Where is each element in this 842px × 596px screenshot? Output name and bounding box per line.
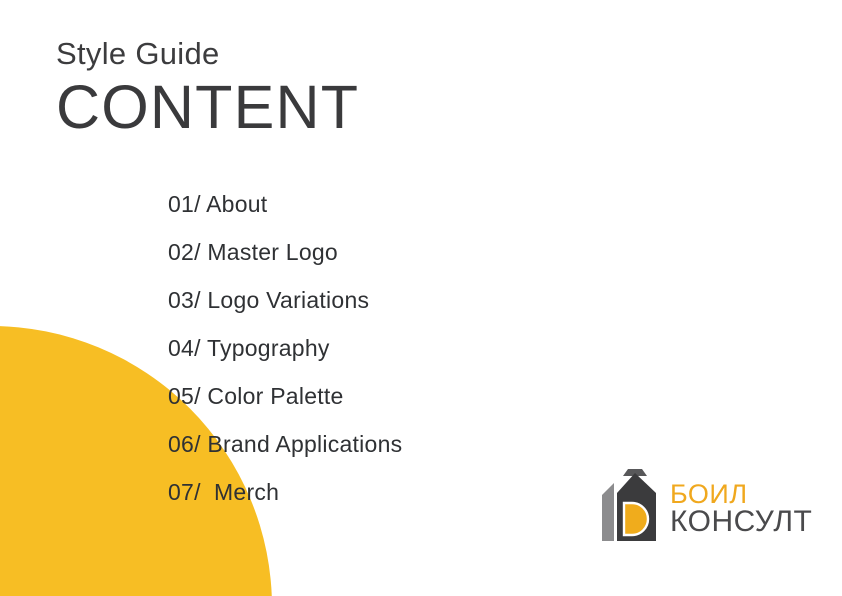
brand-logo: БОИЛ КОНСУЛТ — [600, 466, 805, 552]
logo-word-boil: БОИЛ — [670, 481, 812, 507]
table-of-contents-list: 01/ About 02/ Master Logo 03/ Logo Varia… — [168, 180, 402, 516]
toc-item-brand-applications[interactable]: 06/ Brand Applications — [168, 420, 402, 468]
eyebrow-text: Style Guide — [56, 38, 359, 69]
toc-item-master-logo[interactable]: 02/ Master Logo — [168, 228, 402, 276]
toc-item-typography[interactable]: 04/ Typography — [168, 324, 402, 372]
page-title-block: Style Guide CONTENT — [56, 38, 359, 139]
style-guide-contents-slide: Style Guide CONTENT 01/ About 02/ Master… — [0, 0, 842, 596]
toc-item-merch[interactable]: 07/ Merch — [168, 468, 402, 516]
house-b-monogram-icon — [600, 469, 662, 549]
logo-wordmark: БОИЛ КОНСУЛТ — [670, 481, 812, 537]
toc-item-about[interactable]: 01/ About — [168, 180, 402, 228]
toc-item-logo-variations[interactable]: 03/ Logo Variations — [168, 276, 402, 324]
page-title: CONTENT — [56, 75, 359, 139]
toc-item-color-palette[interactable]: 05/ Color Palette — [168, 372, 402, 420]
logo-word-konsult: КОНСУЛТ — [670, 507, 812, 537]
